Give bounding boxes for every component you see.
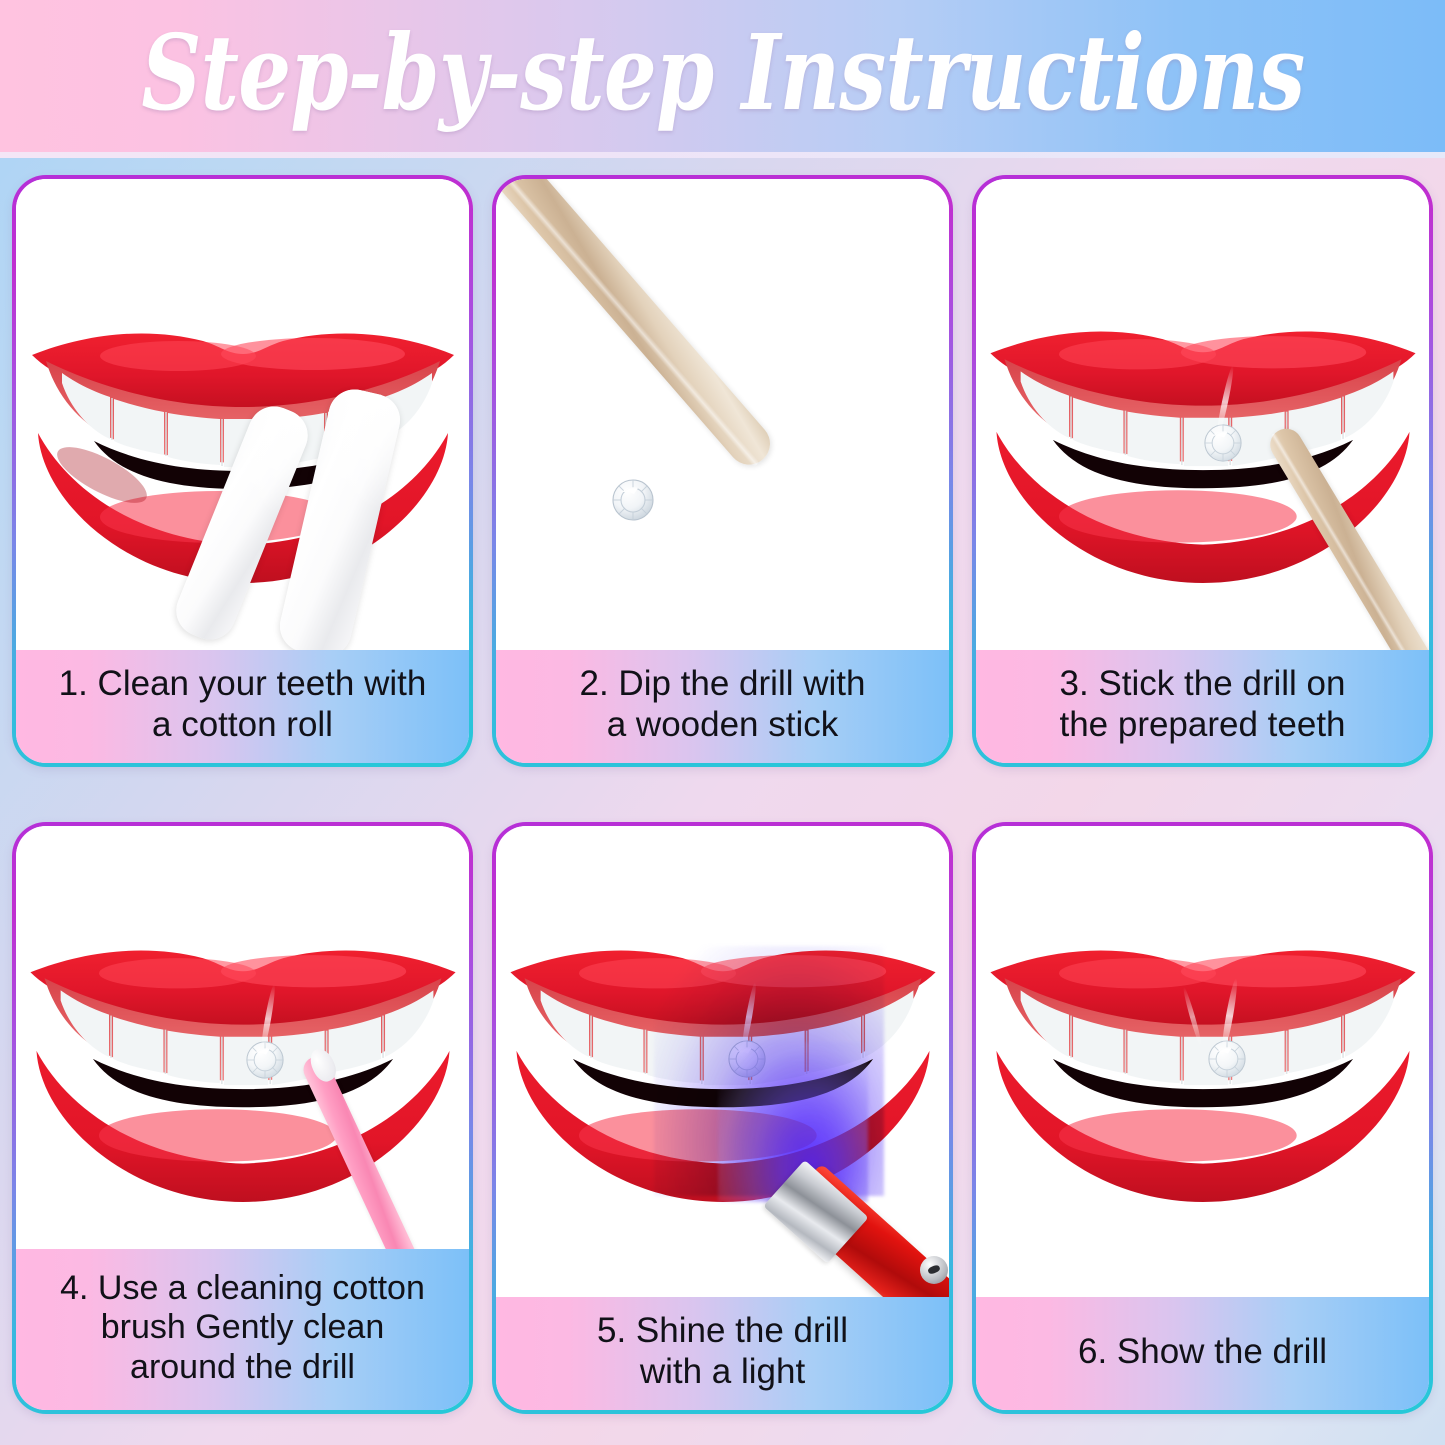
caption-line: brush Gently clean	[101, 1308, 385, 1347]
crystal-gem	[1208, 1040, 1246, 1078]
step-1-illustration	[16, 179, 469, 650]
caption-line: 1. Clean your teeth with	[59, 664, 427, 705]
step-5-caption: 5. Shine the drill with a light	[496, 1297, 949, 1410]
step-card-5-inner: 5. Shine the drill with a light	[496, 826, 949, 1410]
smiling-mouth	[506, 938, 940, 1210]
smiling-mouth	[986, 938, 1420, 1210]
caption-line: a cotton roll	[152, 705, 333, 746]
caption-line: 3. Stick the drill on	[1060, 664, 1346, 705]
page-header: Step-by-step Instructions	[0, 0, 1445, 152]
step-3-caption: 3. Stick the drill on the prepared teeth	[976, 650, 1429, 763]
step-4-illustration	[16, 826, 469, 1249]
step-card-1-inner: 1. Clean your teeth with a cotton roll	[16, 179, 469, 763]
step-1-caption: 1. Clean your teeth with a cotton roll	[16, 650, 469, 763]
smiling-mouth	[26, 938, 460, 1210]
caption-line: a wooden stick	[607, 705, 839, 746]
step-2-caption: 2. Dip the drill with a wooden stick	[496, 650, 949, 763]
crystal-gem	[612, 479, 654, 521]
step-card-5[interactable]: 5. Shine the drill with a light	[492, 822, 953, 1414]
step-card-3-inner: 3. Stick the drill on the prepared teeth	[976, 179, 1429, 763]
crystal-gem	[728, 1040, 766, 1078]
step-4-caption: 4. Use a cleaning cotton brush Gently cl…	[16, 1249, 469, 1410]
wooden-stick	[496, 179, 779, 473]
step-5-illustration	[496, 826, 949, 1297]
step-card-4[interactable]: 4. Use a cleaning cotton brush Gently cl…	[12, 822, 473, 1414]
step-card-6[interactable]: 6. Show the drill	[972, 822, 1433, 1414]
step-6-caption: 6. Show the drill	[976, 1297, 1429, 1410]
crystal-gem	[246, 1041, 284, 1079]
crystal-gem	[1204, 424, 1242, 462]
caption-line: 5. Shine the drill	[597, 1311, 848, 1352]
step-card-6-inner: 6. Show the drill	[976, 826, 1429, 1410]
step-card-2[interactable]: 2. Dip the drill with a wooden stick	[492, 175, 953, 767]
uv-curing-pen-button[interactable]	[920, 1256, 948, 1284]
caption-line: 4. Use a cleaning cotton	[60, 1269, 425, 1308]
caption-line: 2. Dip the drill with	[580, 664, 866, 705]
page-title: Step-by-step Instructions	[141, 21, 1304, 131]
steps-grid: 1. Clean your teeth with a cotton roll	[12, 175, 1433, 1414]
caption-line: the prepared teeth	[1059, 705, 1345, 746]
step-6-illustration	[976, 826, 1429, 1297]
header-underline	[0, 152, 1445, 158]
caption-line: with a light	[640, 1352, 805, 1393]
step-card-4-inner: 4. Use a cleaning cotton brush Gently cl…	[16, 826, 469, 1410]
step-card-3[interactable]: 3. Stick the drill on the prepared teeth	[972, 175, 1433, 767]
step-3-illustration	[976, 179, 1429, 650]
caption-line: 6. Show the drill	[1078, 1332, 1327, 1373]
step-card-2-inner: 2. Dip the drill with a wooden stick	[496, 179, 949, 763]
step-2-illustration	[496, 179, 949, 650]
caption-line: around the drill	[130, 1348, 355, 1387]
step-card-1[interactable]: 1. Clean your teeth with a cotton roll	[12, 175, 473, 767]
